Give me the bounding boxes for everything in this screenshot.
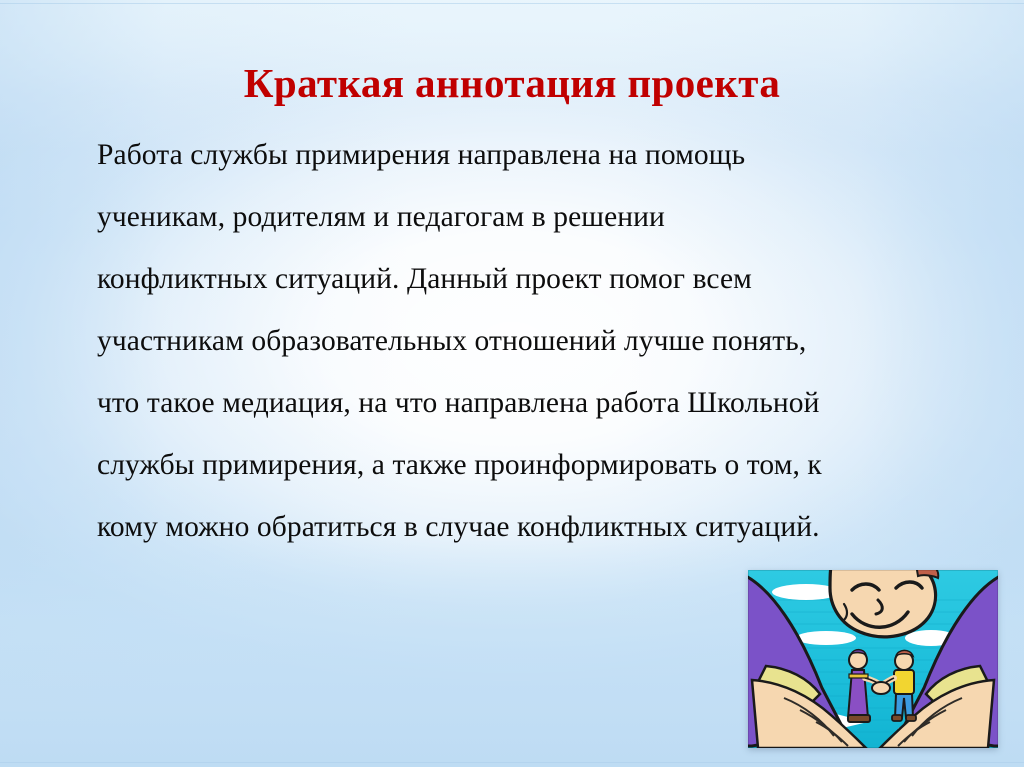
body-line: Работа службы примирения направлена на п…: [97, 124, 977, 186]
body-line: конфликтных ситуаций. Данный проект помо…: [97, 248, 977, 310]
hands-holding-people-illustration: [748, 570, 998, 748]
slide-background-hairline-bottom: [0, 762, 1024, 763]
body-line: службы примирения, а также проинформиров…: [97, 434, 977, 496]
body-line: что такое медиация, на что направлена ра…: [97, 372, 977, 434]
presentation-slide: Краткая аннотация проекта Работа службы …: [0, 0, 1024, 767]
body-line: кому можно обратиться в случае конфликтн…: [97, 496, 977, 558]
body-line: участникам образовательных отношений луч…: [97, 310, 977, 372]
handshake: [872, 682, 890, 694]
slide-background-hairline-top: [0, 3, 1024, 4]
slide-title: Краткая аннотация проекта: [0, 59, 1024, 107]
body-line: ученикам, родителям и педагогам в решени…: [97, 186, 977, 248]
slide-body-text: Работа службы примирения направлена на п…: [97, 124, 977, 558]
